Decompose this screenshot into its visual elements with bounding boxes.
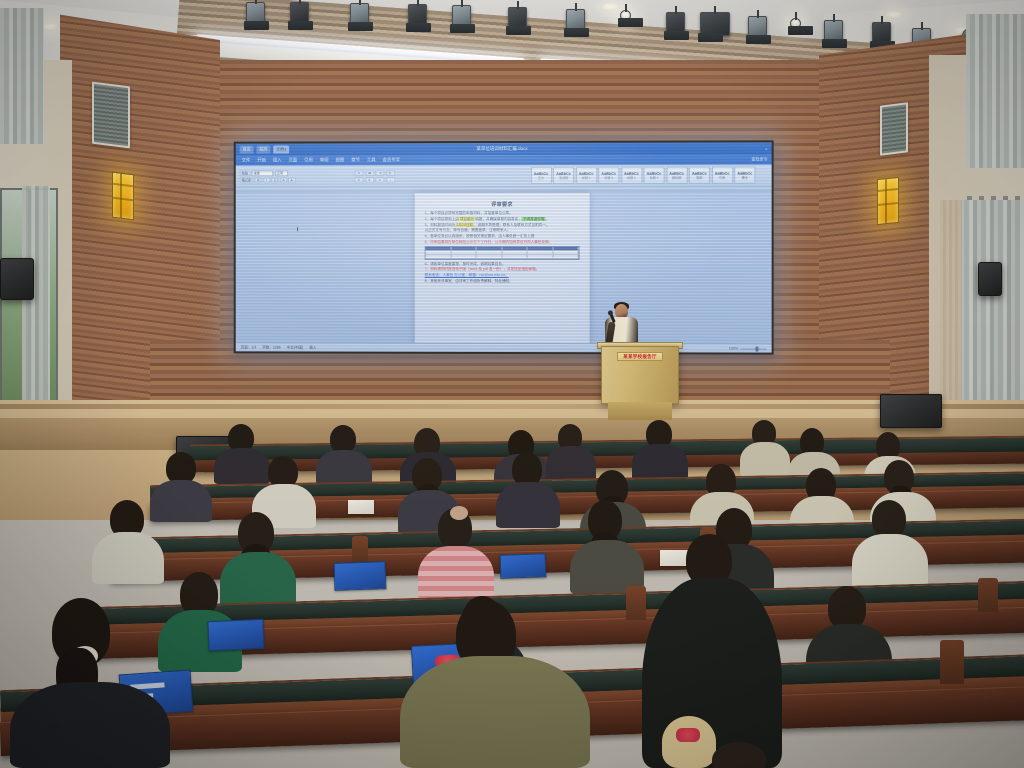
podium-nameplate: 某某学校报告厅 [617, 352, 663, 361]
stage-monitor-right [978, 262, 1002, 296]
document-line: 8、其他未尽事宜，由评审工作组负责解释，特此通知。 [425, 279, 580, 284]
auditorium-scene: 首页 稻壳 文档1 某单位培训材料汇编.docx × 文件 开始 插入 页面 引… [0, 0, 1024, 768]
attendee-head [330, 425, 356, 453]
blue-folder[interactable] [500, 553, 547, 579]
bench-arm [978, 578, 998, 612]
attendee-body [316, 450, 372, 486]
stage-light [452, 5, 471, 27]
bench-arm [352, 536, 368, 562]
stage-light [872, 22, 891, 44]
menu-item-review[interactable]: 审阅 [320, 157, 329, 163]
attendee-body [220, 552, 296, 608]
attendee-body [92, 532, 164, 584]
attendee-body [10, 682, 170, 768]
stage-light [748, 16, 767, 38]
attendee-body [496, 482, 560, 528]
attendee-head [872, 500, 906, 538]
align-right-button[interactable]: ≡ [375, 177, 384, 183]
document-line: 3、材料报送时间为3月20日前，逾期不再受理；联系人及联系方式见附件一。 [425, 223, 580, 228]
text-cursor [297, 227, 298, 231]
attendee-head [512, 452, 542, 486]
status-page-info: 页面：1/3 [241, 345, 257, 350]
curtain-right [960, 200, 1024, 428]
document-line-link[interactable]: 联系电话：人事处 办公室，邮箱：rsc@xxx.edu.cn。 [425, 273, 580, 278]
document-line: 以正式文号行文，单号自编，需要盖章，注明联系人。 [425, 228, 580, 233]
italic-button[interactable]: I [263, 177, 270, 183]
tab-home[interactable]: 首页 [240, 146, 254, 154]
menu-item-start[interactable]: 开始 [257, 157, 266, 163]
align-center-button[interactable]: ≡ [365, 177, 374, 183]
highlight-button[interactable]: A- [289, 177, 296, 183]
document-title: 某单位培训材料汇编.docx [476, 146, 527, 152]
menu-item-tools[interactable]: 工具 [367, 157, 376, 163]
document-heading: 评审要求 [425, 201, 580, 208]
style-item[interactable]: AaBbCc 标题 3 [621, 167, 642, 184]
style-gallery: AaBbCc 正文 AaBbCc 无间隔 AaBbCc 标题 1 AaBbCc … [531, 167, 756, 184]
style-item[interactable]: AaBbCc 引用 [711, 167, 732, 184]
table-cell [528, 255, 554, 259]
zoom-control[interactable]: 100% [729, 347, 767, 351]
style-item[interactable]: AaBbCc 无间隔 [553, 167, 574, 184]
stage-light [408, 4, 427, 26]
stage-light [566, 9, 585, 31]
status-insert-mode: 插入 [309, 345, 316, 350]
table-cell [426, 255, 451, 259]
style-item[interactable]: AaBbCc 标题 2 [598, 167, 619, 184]
blue-folder[interactable] [334, 561, 387, 591]
downlight [884, 10, 904, 19]
podium-nameplate-text: 某某学校报告厅 [623, 354, 657, 360]
stage-light [350, 3, 369, 25]
menu-item-page[interactable]: 页面 [289, 157, 298, 163]
paste-button[interactable]: 粘贴 [240, 170, 250, 176]
menu-item-view[interactable]: 视图 [335, 157, 344, 163]
floor-monitor-speaker [880, 394, 942, 428]
ribbon-group-paragraph: ≡ ≔ ⇥ ⇤ ≡ ≡ ≡ ↕ [355, 166, 395, 186]
stage-light [700, 12, 730, 36]
tab-docer[interactable]: 稻壳 [256, 146, 270, 154]
table-cell [502, 255, 528, 259]
menu-item-member[interactable]: 会员专享 [383, 157, 400, 163]
font-size-combo[interactable]: 五号 [275, 170, 288, 176]
align-left-button[interactable]: ≡ [355, 177, 364, 183]
format-painter-button[interactable]: 格式刷 [240, 177, 254, 183]
document-line: 1、每个项目必须有完整的申报材料，并加盖单位公章。 [425, 211, 580, 216]
attendee-body [400, 656, 590, 768]
attendee-body [740, 442, 790, 476]
stage-light [290, 2, 309, 24]
curtain-right-wood-strip [940, 200, 962, 422]
menu-item-file[interactable]: 文件 [242, 158, 251, 164]
handout-paper[interactable] [348, 500, 374, 514]
curtain-upper-left [0, 8, 44, 144]
indent-decrease-button[interactable]: ⇤ [386, 170, 395, 176]
bench-arm [940, 640, 964, 684]
indent-increase-button[interactable]: ⇥ [375, 170, 384, 176]
wall-sconce-right [877, 177, 899, 225]
podium-base [608, 402, 672, 420]
document-line: 2、每个项目原则上由项目组长填报，并确保填报内容真实，不得弄虚作假。 [425, 217, 580, 222]
style-item[interactable]: AaBbCc 强调 [689, 167, 710, 184]
style-item[interactable]: AaBbCc 标题 4 [643, 167, 664, 184]
stage-light [508, 7, 527, 29]
zoom-slider[interactable] [740, 348, 766, 349]
downlight [600, 2, 620, 11]
table-cell [451, 255, 476, 259]
wps-title-bar: 首页 稻壳 文档1 某单位培训材料汇编.docx × [236, 142, 772, 155]
number-list-button[interactable]: ≔ [365, 170, 374, 176]
status-word-count: 字数：1286 [262, 345, 281, 350]
status-language: 中文(中国) [287, 345, 304, 350]
document-line: 4、各单位务必认真组织，按照相关规定要求，由人事处统一汇总上报 [425, 234, 580, 239]
stage-light [620, 10, 631, 21]
underline-button[interactable]: U [272, 177, 279, 183]
bench-arm [626, 586, 646, 620]
zoom-level: 100% [729, 347, 738, 351]
attendee-body [546, 446, 596, 480]
highlight-yellow: 3月20日前 [455, 223, 474, 227]
document-table[interactable] [425, 246, 580, 260]
search-icon[interactable]: 查找命令 [751, 156, 767, 162]
air-vent-icon [92, 82, 130, 149]
attendee-body [632, 444, 688, 480]
table-cell [553, 255, 579, 259]
menu-item-reference[interactable]: 引用 [304, 157, 313, 163]
document-line: 6、请各单位高度重视，按时完成，逾期后果自负。 [425, 262, 580, 267]
attendee-head [662, 716, 716, 768]
attendee-body [418, 546, 494, 600]
hair-bun [450, 506, 468, 520]
tab-document-1[interactable]: 文档1 [273, 146, 289, 154]
horizontal-ruler [236, 187, 772, 193]
table-cell [477, 255, 502, 259]
stage-light [246, 2, 265, 24]
menu-item-insert[interactable]: 插入 [273, 157, 282, 163]
document-canvas[interactable]: 评审要求 1、每个项目必须有完整的申报材料，并加盖单位公章。 2、每个项目原则上… [236, 187, 772, 344]
stage-light [666, 12, 685, 34]
font-color-button[interactable]: A [280, 177, 287, 183]
menu-item-section[interactable]: 章节 [351, 157, 360, 163]
style-item[interactable]: AaBbCc 标题 1 [576, 167, 597, 184]
bold-button[interactable]: B [255, 177, 262, 183]
cap-logo-icon [676, 728, 700, 742]
wps-ribbon: 粘贴 宋体 五号 格式刷 B I U A A- ≡ ≔ ⇥ [236, 164, 772, 187]
table-row [426, 255, 579, 259]
blue-folder[interactable] [207, 619, 264, 651]
projection-screen[interactable]: 首页 稻壳 文档1 某单位培训材料汇编.docx × 文件 开始 插入 页面 引… [234, 140, 774, 354]
attendee-body [150, 480, 212, 522]
window-controls[interactable]: × [765, 146, 767, 151]
line-spacing-button[interactable]: ↕ [386, 177, 395, 183]
stage-edge [0, 404, 1024, 409]
highlight-yellow: 项目组长 [459, 217, 475, 221]
air-vent-icon [880, 102, 908, 155]
highlight-green: 不得弄虚作假 [522, 217, 546, 221]
ribbon-group-clipboard: 粘贴 宋体 五号 格式刷 B I U A A- [240, 166, 296, 186]
style-item[interactable]: AaBbCc 正文 [531, 167, 552, 184]
document-page[interactable]: 评审要求 1、每个项目必须有完整的申报材料，并加盖单位公章。 2、每个项目原则上… [415, 193, 590, 344]
curtain-upper-right [966, 14, 1024, 168]
wall-speaker-left [0, 258, 34, 300]
wps-status-bar: 页面：1/3 字数：1286 中文(中国) 插入 100% [236, 342, 772, 352]
attendee-body [852, 534, 928, 588]
attendee-body [214, 448, 270, 484]
wall-sconce-left [112, 172, 134, 221]
style-item[interactable]: AaBbCc 副标题 [666, 167, 687, 184]
document-line-red: 5、评审结果将在单位网站公示五个工作日，公示期内如有异议可向人事处反映。 [425, 240, 580, 245]
font-name-combo[interactable]: 宋体 [252, 170, 274, 176]
document-line-red: 7、材料请同时报送电子版（word 及 pdf 各一份），并发送至指定邮箱。 [425, 267, 580, 272]
zoom-slider-knob[interactable] [755, 346, 758, 351]
style-item[interactable]: AaBbCc 要点 [734, 167, 755, 184]
stage-light [824, 20, 843, 42]
stage-light [790, 18, 801, 29]
bullet-list-button[interactable]: ≡ [355, 170, 364, 176]
